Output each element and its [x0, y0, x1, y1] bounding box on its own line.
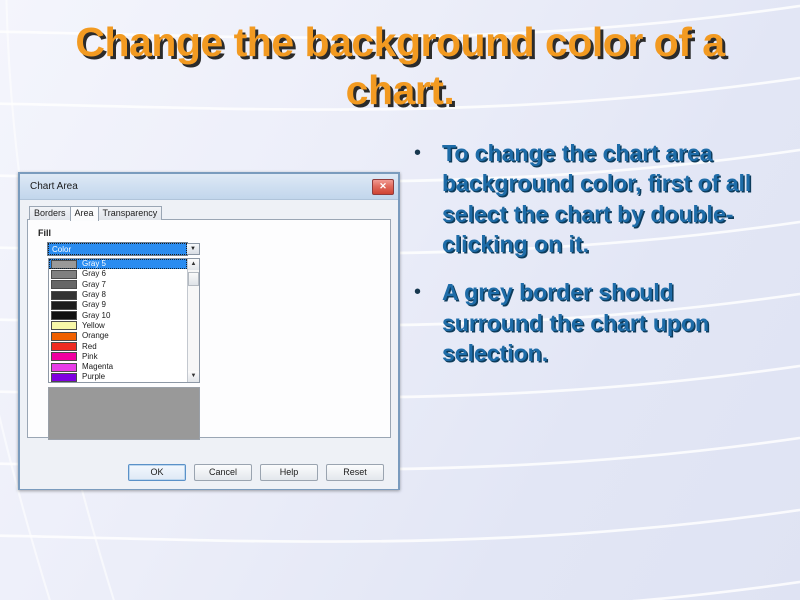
dialog-button-row: OK Cancel Help Reset — [20, 464, 398, 481]
reset-button[interactable]: Reset — [326, 464, 384, 481]
page-title: Change the background color of a chart. — [40, 18, 760, 115]
color-list-items[interactable]: Gray 5 Gray 6 Gray 7 Gray 8 — [49, 259, 187, 382]
scroll-up-icon[interactable]: ▲ — [188, 259, 199, 270]
dialog-title: Chart Area — [30, 181, 372, 192]
bullet-marker-icon: • — [408, 277, 442, 307]
scrollbar-thumb[interactable] — [188, 272, 199, 286]
scrollbar-track[interactable] — [188, 270, 199, 371]
fill-type-combobox[interactable]: Color ▼ — [48, 243, 200, 255]
color-swatch — [51, 280, 77, 289]
list-item[interactable]: Gray 10 — [49, 310, 187, 320]
color-label: Gray 10 — [82, 311, 110, 321]
close-icon[interactable]: ✕ — [372, 179, 394, 195]
color-label: Yellow — [82, 321, 105, 331]
color-swatch — [51, 301, 77, 310]
list-item[interactable]: Purple — [49, 372, 187, 382]
color-swatch — [51, 363, 77, 372]
color-swatch — [51, 291, 77, 300]
scroll-down-icon[interactable]: ▼ — [188, 371, 199, 382]
color-preview — [48, 387, 200, 440]
color-swatch — [51, 260, 77, 269]
cancel-button[interactable]: Cancel — [194, 464, 252, 481]
dialog-titlebar[interactable]: Chart Area ✕ — [20, 174, 398, 200]
color-label: Magenta — [82, 362, 113, 372]
chevron-down-icon[interactable]: ▼ — [187, 243, 200, 255]
list-item[interactable]: Magenta — [49, 362, 187, 372]
list-item[interactable]: Gray 9 — [49, 300, 187, 310]
color-label: Gray 7 — [82, 280, 106, 290]
color-swatch — [51, 352, 77, 361]
dialog-body: Borders Area Transparency Fill Color ▼ G… — [20, 200, 398, 489]
ok-button[interactable]: OK — [128, 464, 186, 481]
color-label: Gray 6 — [82, 269, 106, 279]
tab-transparency[interactable]: Transparency — [98, 206, 163, 220]
list-item: • A grey border should surround the char… — [408, 277, 776, 368]
color-swatch — [51, 270, 77, 279]
color-label: Gray 5 — [82, 259, 106, 269]
fill-group-label: Fill — [38, 228, 382, 238]
list-item[interactable]: Red — [49, 341, 187, 351]
list-item[interactable]: Orange — [49, 331, 187, 341]
tab-area[interactable]: Area — [70, 206, 99, 221]
color-swatch — [51, 311, 77, 320]
chart-area-dialog: Chart Area ✕ Borders Area Transparency F… — [18, 172, 400, 490]
list-item[interactable]: Gray 8 — [49, 290, 187, 300]
list-item: • To change the chart area background co… — [408, 138, 776, 259]
bullet-marker-icon: • — [408, 138, 442, 168]
color-label: Orange — [82, 331, 109, 341]
help-button[interactable]: Help — [260, 464, 318, 481]
color-swatch — [51, 332, 77, 341]
color-swatch — [51, 373, 77, 382]
color-listbox[interactable]: Gray 5 Gray 6 Gray 7 Gray 8 — [48, 258, 200, 383]
color-label: Gray 9 — [82, 300, 106, 310]
list-item[interactable]: Gray 5 — [49, 259, 187, 269]
color-swatch — [51, 321, 77, 330]
list-item[interactable]: Gray 6 — [49, 269, 187, 279]
color-label: Red — [82, 342, 97, 352]
color-swatch — [51, 342, 77, 351]
tab-panel-area: Fill Color ▼ Gray 5 Gray 6 — [27, 219, 391, 438]
fill-type-value[interactable]: Color — [48, 243, 187, 255]
list-item[interactable]: Yellow — [49, 321, 187, 331]
list-item[interactable]: Pink — [49, 352, 187, 362]
color-label: Gray 8 — [82, 290, 106, 300]
tab-strip: Borders Area Transparency — [27, 205, 391, 220]
list-item[interactable]: Gray 7 — [49, 280, 187, 290]
color-label: Purple — [82, 372, 105, 382]
slide-canvas: Change the background color of a chart. … — [0, 0, 800, 600]
bullet-text: A grey border should surround the chart … — [442, 277, 776, 368]
color-list-scrollbar[interactable]: ▲ ▼ — [187, 259, 199, 382]
bullet-text: To change the chart area background colo… — [442, 138, 776, 259]
bullet-list: • To change the chart area background co… — [408, 138, 776, 387]
tab-borders[interactable]: Borders — [29, 206, 71, 220]
color-label: Pink — [82, 352, 98, 362]
